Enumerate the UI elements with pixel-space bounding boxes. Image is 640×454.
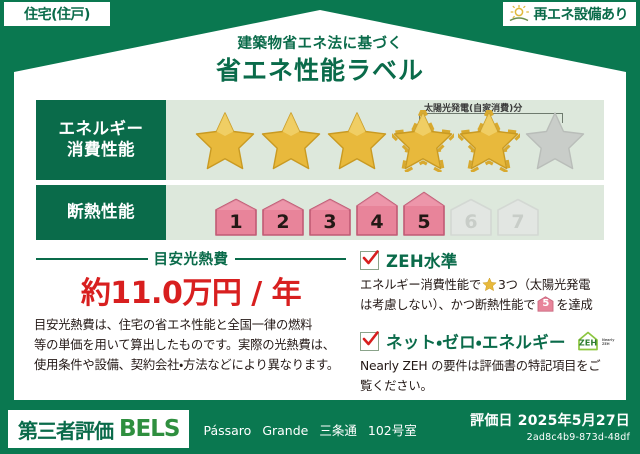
star-icon-filled <box>326 110 388 172</box>
bels-logo: 第三者評価 BELS <box>8 410 189 448</box>
cost-heading-row: 目安光熱費 <box>36 248 346 269</box>
checkmark-icon <box>361 330 380 349</box>
rule-right <box>235 258 347 260</box>
insulation-level-value: 7 <box>496 211 540 233</box>
zeh-level-title: ZEH水準 <box>386 248 458 272</box>
svg-text:ZEH: ZEH <box>579 338 598 348</box>
net-zero-body-line-2: 覧ください。 <box>360 377 615 397</box>
insulation-scale-panel: 1234567 <box>166 185 604 240</box>
zeh-body-part4: を達成 <box>556 298 592 312</box>
net-zero-body: Nearly ZEH の要件は評価書の特記項目をご 覧ください。 <box>360 357 615 396</box>
certification-net-zero-energy: ネット・ゼロ・エネルギー ZEH Nearly ZEH Nearly ZEH の… <box>360 329 615 396</box>
property-unit: 102号室 <box>368 420 417 439</box>
property-area: 三条通 <box>319 420 357 439</box>
insulation-level-6: 6 <box>449 198 493 237</box>
star-icon-filled <box>458 110 520 172</box>
cost-note-line-3: 使用条件や設備、契約会社・方法などにより異なります。 <box>34 356 350 376</box>
evaluation-meta: 評価日 2025年5月27日 2ad8c4b9-873d-48df <box>470 410 630 443</box>
cost-heading: 目安光熱費 <box>154 248 229 269</box>
insulation-level-value: 3 <box>308 211 352 233</box>
energy-row-label: エネルギー 消費性能 <box>36 100 166 180</box>
building-type-tag: 住宅(住戸) <box>4 2 110 26</box>
cost-note-line-1: 目安光熱費は、住宅の省エネ性能と全国一律の燃料 <box>34 316 350 336</box>
star-icon-filled <box>194 110 256 172</box>
insulation-level-5: 5 <box>402 191 446 237</box>
insulation-level-value: 6 <box>449 211 493 233</box>
evaluation-id: 2ad8c4b9-873d-48df <box>470 432 630 443</box>
details-columns: 目安光熱費 約11.0万円 / 年 目安光熱費は、住宅の省エネ性能と全国一律の燃… <box>32 246 608 394</box>
checkmark-icon <box>361 249 380 268</box>
evaluation-date: 評価日 2025年5月27日 <box>470 410 630 430</box>
property-name-1: Pássaro <box>203 423 251 438</box>
star-icon-empty <box>524 110 586 172</box>
bels-en-label: BELS <box>119 416 179 442</box>
star-icon-filled <box>260 110 322 172</box>
star-icon-filled <box>392 110 454 172</box>
check-icon <box>360 332 379 351</box>
energy-rating-panel: 太陽光発電(自家消費)分 <box>166 100 604 180</box>
cost-note: 目安光熱費は、住宅の省エネ性能と全国一律の燃料 等の単価を用いて算出したものです… <box>34 316 350 376</box>
insulation-levels: 1234567 <box>214 191 540 237</box>
label-content: 建築物省エネ法に基づく 省エネ性能ラベル エネルギー 消費性能 太陽光発電(自家… <box>14 10 626 400</box>
footer-bar: 第三者評価 BELS Pássaro Grande 三条通 102号室 評価日 … <box>0 404 640 454</box>
insulation-level-value: 2 <box>261 211 305 233</box>
certification-zeh-level: ZEH水準 エネルギー消費性能で3つ（太陽光発電 は考慮しない）、かつ断熱性能で… <box>360 248 615 315</box>
net-zero-title: ネット・ゼロ・エネルギー <box>386 329 566 353</box>
renewable-equipment-badge: 再エネ設備あり <box>503 2 637 26</box>
insulation-level-4: 4 <box>355 191 399 237</box>
insulation-label: 断熱性能 <box>67 202 135 223</box>
zeh-level-body: エネルギー消費性能で3つ（太陽光発電 は考慮しない）、かつ断熱性能で5を達成 <box>360 276 615 315</box>
energy-label-line2: 消費性能 <box>67 140 135 161</box>
check-icon <box>360 251 379 270</box>
property-name-2: Grande <box>262 423 308 438</box>
zeh-body-part1: エネルギー消費性能で <box>360 278 481 292</box>
cost-value: 約11.0万円 / 年 <box>32 268 350 312</box>
energy-performance-label: 建築物省エネ法に基づく 省エネ性能ラベル エネルギー 消費性能 太陽光発電(自家… <box>0 0 640 454</box>
insulation-level-value: 1 <box>214 211 258 233</box>
renewable-badge-label: 再エネ設備あり <box>534 4 629 24</box>
insulation-level-1: 1 <box>214 198 258 237</box>
zeh-house-logo-icon: ZEH Nearly ZEH <box>575 329 615 353</box>
insulation-level-2: 2 <box>261 198 305 237</box>
zeh-level-header: ZEH水準 <box>360 248 615 272</box>
zeh-body-part3: は考慮しない）、かつ断熱性能で <box>360 298 535 312</box>
bels-jp-label: 第三者評価 <box>18 415 113 444</box>
insulation-level-3: 3 <box>308 198 352 237</box>
insulation-level-value: 4 <box>355 211 399 233</box>
label-subtitle: 建築物省エネ法に基づく <box>14 32 626 53</box>
utility-cost-block: 目安光熱費 約11.0万円 / 年 目安光熱費は、住宅の省エネ性能と全国一律の燃… <box>32 246 350 394</box>
sun-icon <box>508 4 530 24</box>
insulation-badge-value: 5 <box>537 296 554 312</box>
zeh-body-part2: 3つ（太陽光発電 <box>498 278 590 292</box>
insulation-row-label: 断熱性能 <box>36 185 166 240</box>
insulation-level-7: 7 <box>496 198 540 237</box>
star-rating <box>194 110 586 172</box>
cost-note-line-2: 等の単価を用いて算出したものです。実際の光熱費は、 <box>34 336 350 356</box>
rule-left <box>36 258 148 260</box>
svg-text:ZEH: ZEH <box>602 342 610 346</box>
energy-performance-row: エネルギー 消費性能 太陽光発電(自家消費)分 <box>36 100 604 180</box>
insulation-level-value: 5 <box>402 211 446 233</box>
star-icon <box>482 277 497 292</box>
insulation-performance-row: 断熱性能 1234567 <box>36 185 604 240</box>
insulation-badge-icon: 5 <box>537 296 554 312</box>
net-zero-header: ネット・ゼロ・エネルギー ZEH Nearly ZEH <box>360 329 615 353</box>
energy-label-line1: エネルギー <box>59 119 144 140</box>
page-title: 省エネ性能ラベル <box>14 51 626 87</box>
property-info: Pássaro Grande 三条通 102号室 <box>203 420 416 439</box>
net-zero-body-line-1: Nearly ZEH の要件は評価書の特記項目をご <box>360 357 615 377</box>
certifications-block: ZEH水準 エネルギー消費性能で3つ（太陽光発電 は考慮しない）、かつ断熱性能で… <box>350 246 615 394</box>
